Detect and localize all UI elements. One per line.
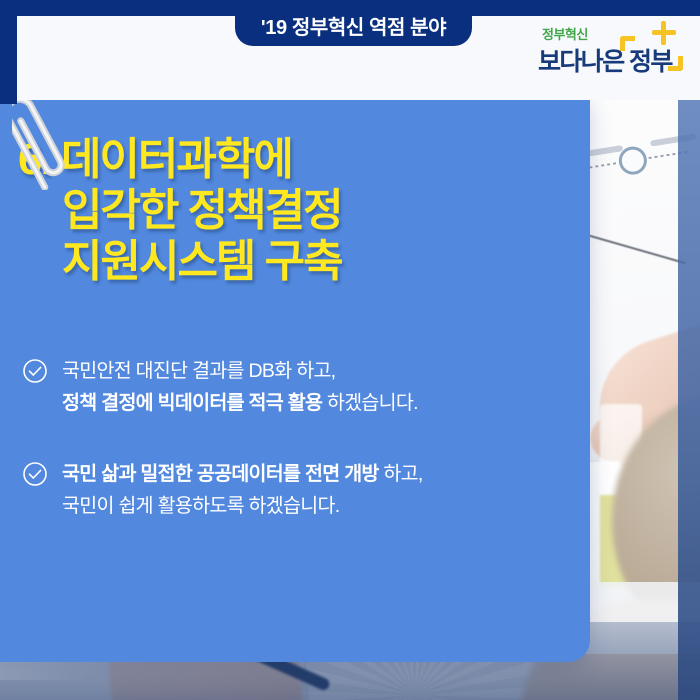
list-item: 국민 삶과 밀접한 공공데이터를 전면 개방 하고, 국민이 쉽게 활용하도록 … — [16, 459, 580, 522]
title-line-3: 지원시스템 구축 — [18, 236, 558, 287]
header-title-tab: '19 정부혁신 역점 분야 — [235, 0, 472, 46]
title-line-1: 6. 데이터과학에 — [18, 134, 558, 185]
title-line-2: 입각한 정책결정 — [18, 185, 558, 236]
bullet-1-regular: 하겠습니다. — [322, 392, 418, 414]
government-innovation-logo: 정부혁신 보다나은 정부 — [528, 22, 678, 82]
logo-main-text-left: 보다나은 — [538, 42, 624, 78]
title-text-1: 데이터과학에 — [61, 135, 292, 184]
content-panel: 6. 데이터과학에 입각한 정책결정 지원시스템 구축 국민안전 대진단 결과를… — [0, 98, 590, 662]
bullet-1-line-2: 정책 결정에 빅데이터를 적극 활용 하겠습니다. — [62, 388, 418, 420]
header-left-bar — [0, 0, 17, 104]
check-circle-icon — [22, 358, 48, 384]
bullet-2-regular: 하고, — [379, 463, 423, 485]
bullet-1-bold: 정책 결정에 빅데이터를 적극 활용 — [62, 392, 322, 414]
infographic-card: '19 정부혁신 역점 분야 정부혁신 보다나은 정부 6. 데이터과학에 입각… — [0, 0, 700, 700]
content-panel-inner: 6. 데이터과학에 입각한 정책결정 지원시스템 구축 국민안전 대진단 결과를… — [0, 98, 590, 662]
logo-bracket-bottom-right — [668, 56, 683, 71]
list-item: 국민안전 대진단 결과를 DB화 하고, 정책 결정에 빅데이터를 적극 활용 … — [16, 356, 580, 419]
bullet-1-line-1: 국민안전 대진단 결과를 DB화 하고, — [62, 356, 418, 388]
list-item-text: 국민안전 대진단 결과를 DB화 하고, 정책 결정에 빅데이터를 적극 활용 … — [62, 356, 418, 419]
page-title: 6. 데이터과학에 입각한 정책결정 지원시스템 구축 — [18, 134, 558, 287]
bullet-2-line-2: 국민이 쉽게 활용하도록 하겠습니다. — [62, 491, 423, 523]
right-edge-strip — [678, 0, 700, 700]
plus-icon-vertical — [661, 21, 666, 45]
check-circle-icon — [22, 461, 48, 487]
logo-top-text: 정부혁신 — [542, 24, 588, 43]
bullet-2-line-1: 국민 삶과 밀접한 공공데이터를 전면 개방 하고, — [62, 459, 423, 491]
logo-main-text-right: 정부 — [629, 42, 672, 78]
header-title-text: '19 정부혁신 역점 분야 — [261, 11, 446, 40]
bullet-2-bold: 국민 삶과 밀접한 공공데이터를 전면 개방 — [62, 463, 379, 485]
list-item-text: 국민 삶과 밀접한 공공데이터를 전면 개방 하고, 국민이 쉽게 활용하도록 … — [62, 459, 423, 522]
bullet-list: 국민안전 대진단 결과를 DB화 하고, 정책 결정에 빅데이터를 적극 활용 … — [16, 356, 580, 562]
